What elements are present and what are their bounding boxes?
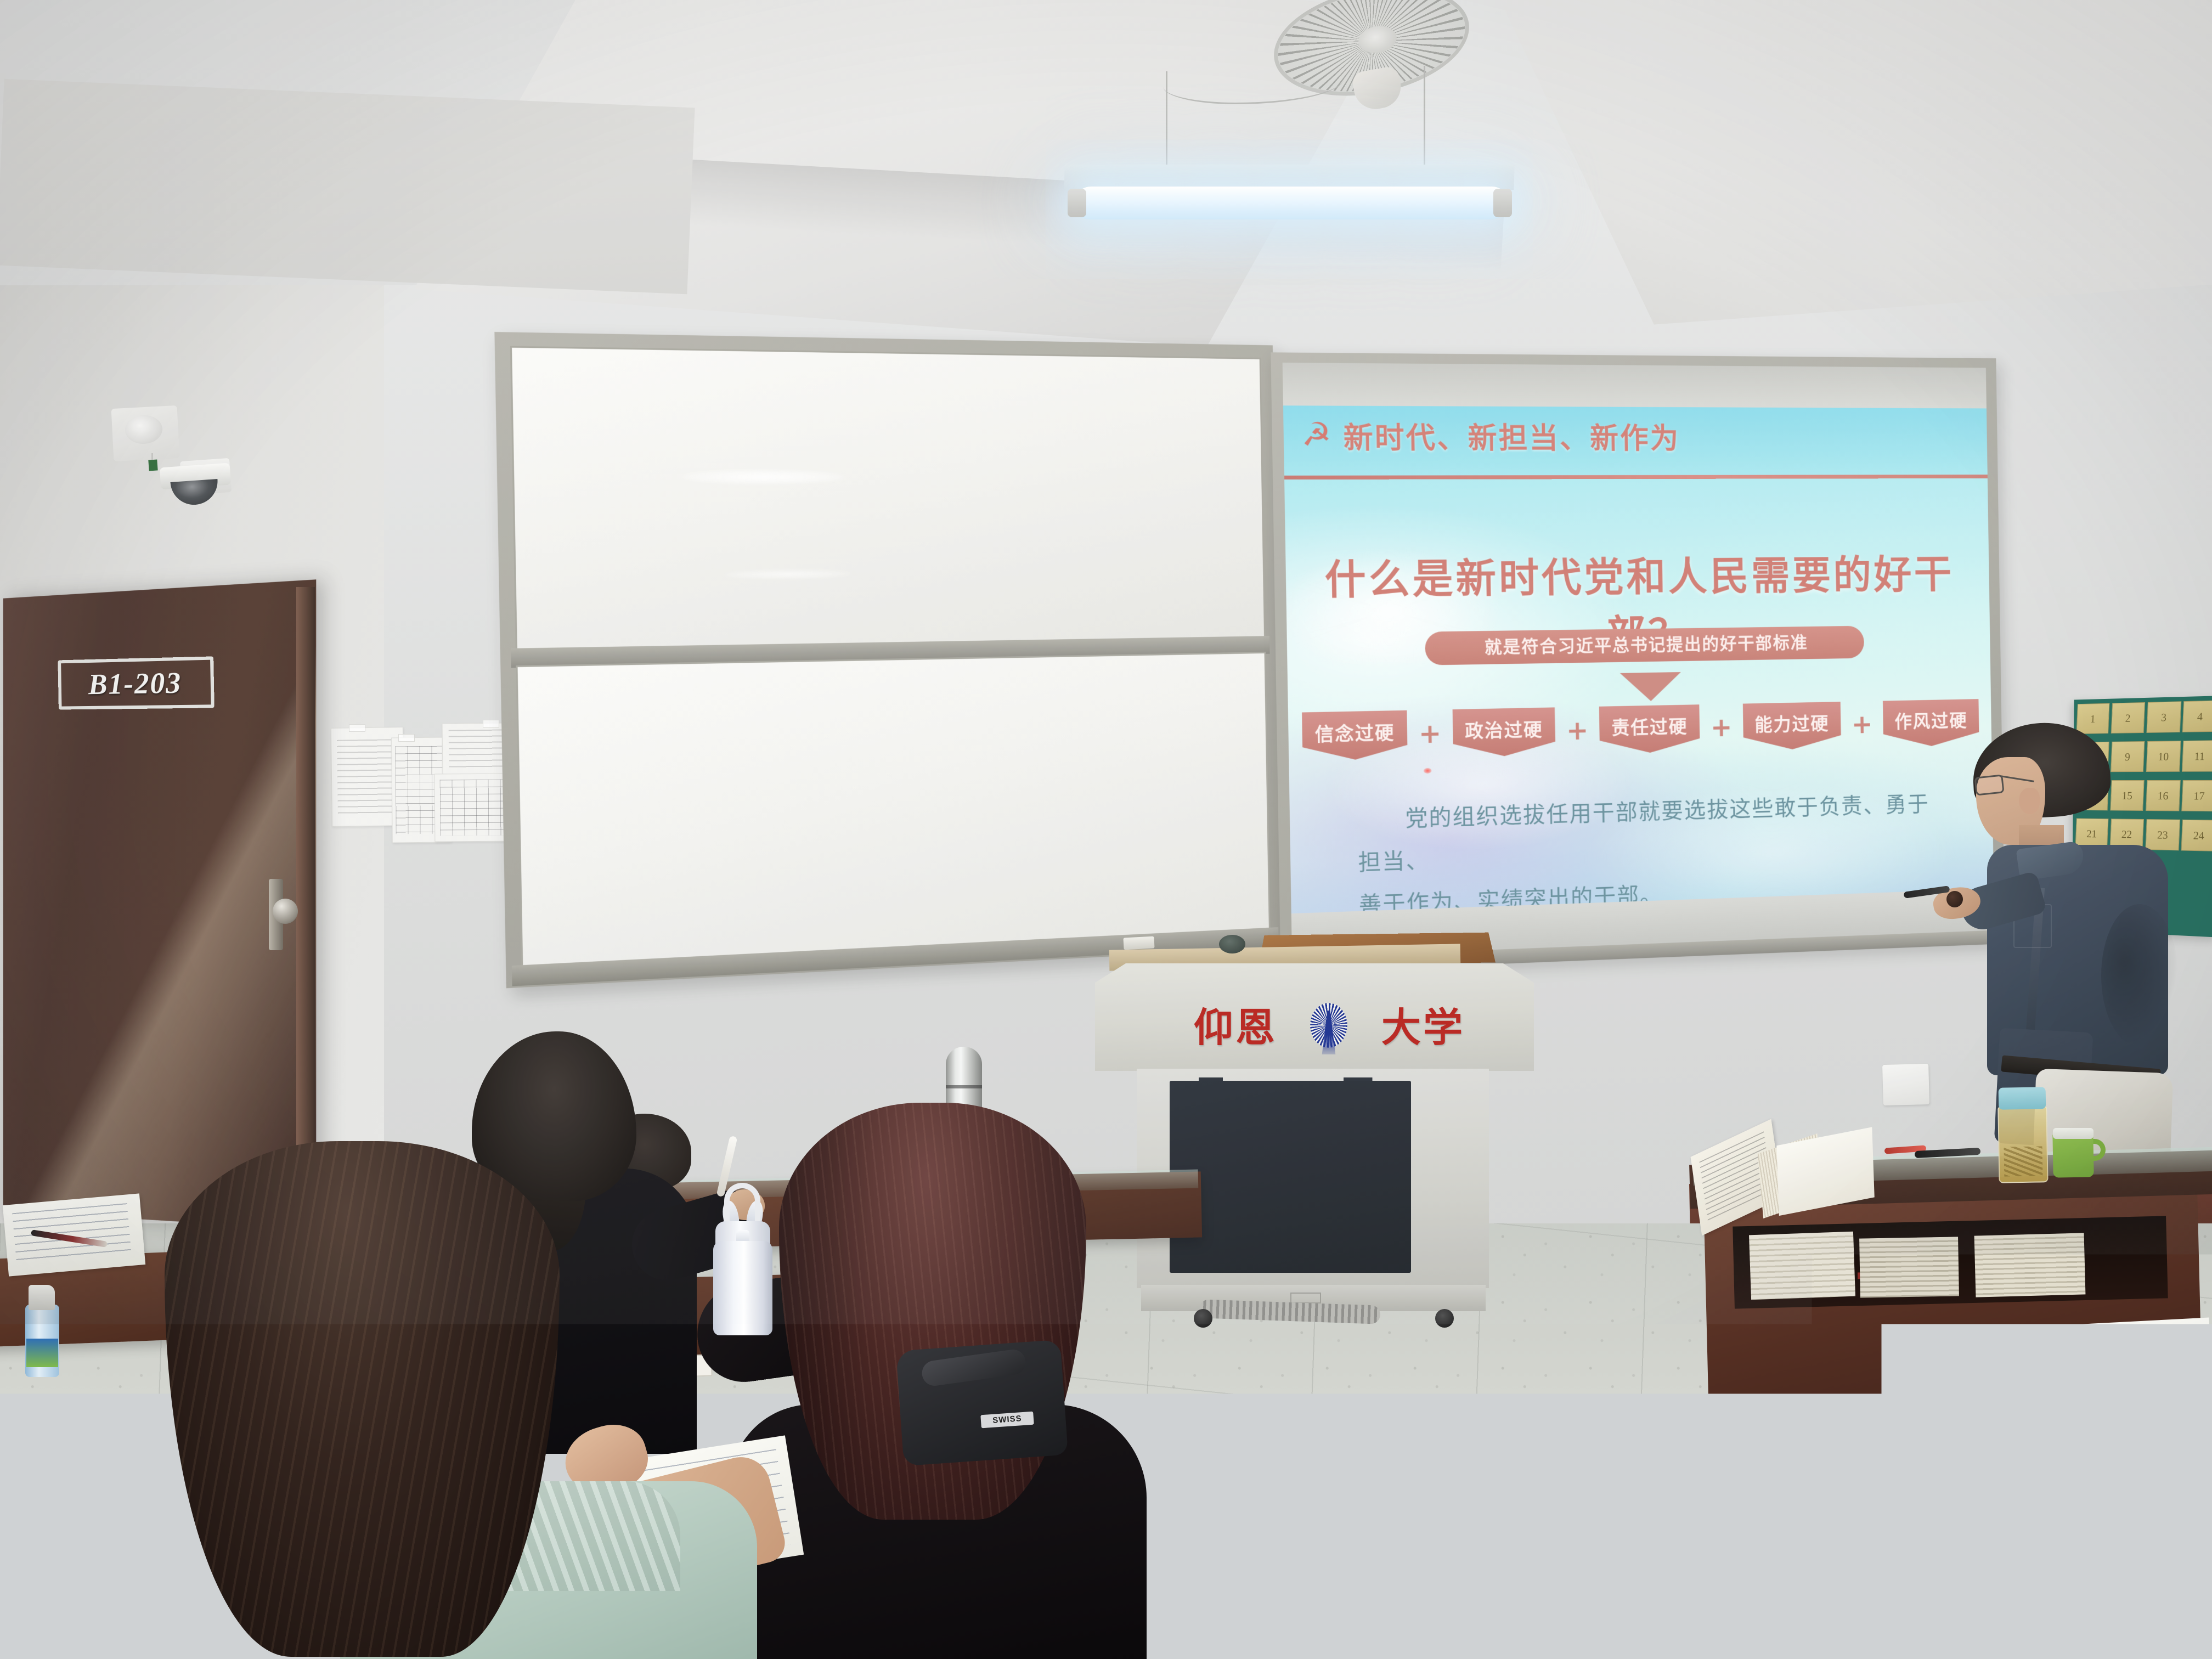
podium-front-panel: 仰恩 大学: [1095, 963, 1534, 1071]
light-tube-glass: [1074, 187, 1508, 219]
room-number-sign: B1-203: [58, 656, 214, 709]
slide-badge-row: 信念过硬 + 政治过硬 + 责任过硬 + 能力过硬 + 作风过硬: [1302, 699, 1979, 761]
slide-badge: 能力过硬: [1742, 702, 1841, 751]
podium-caster-wheel: [1435, 1309, 1454, 1328]
plus-icon: +: [1851, 712, 1872, 738]
notice-tape: [483, 720, 499, 727]
glass-tea-bottle: [1997, 1080, 2048, 1183]
plus-icon: +: [1566, 717, 1589, 744]
light-hanger-right: [1424, 66, 1425, 167]
plus-icon: +: [1710, 714, 1732, 741]
student-pink-sleeve-body: [0, 1430, 154, 1659]
university-name-right: 大学: [1381, 995, 1465, 1053]
book-stack: [1749, 1232, 1855, 1300]
teacher-shirt-shadow: [2101, 904, 2178, 1047]
teacher-glasses: [1974, 774, 2004, 795]
book-stack: [1859, 1237, 1959, 1297]
light-end-cap-right: [1493, 189, 1512, 217]
slide-kicker-text: 新时代、新担当、新作为: [1343, 419, 1731, 459]
mug-rim: [2053, 1128, 2093, 1139]
teacher: [1937, 723, 2212, 1178]
whiteboard-left: [494, 332, 1283, 988]
whiteboard-light-reflection: [682, 470, 844, 484]
podium-control-screen[interactable]: [1170, 1081, 1411, 1273]
slide-badge: 政治过硬: [1452, 707, 1555, 757]
white-bunny-ear-water-bottle: [708, 1186, 778, 1335]
projection-surface: ☭ 新时代、新担当、新作为 什么是新时代党和人民需要的好干部？ 就是符合习近平总…: [1283, 363, 1995, 960]
fluorescent-tube-light: [1064, 165, 1531, 230]
slide-subtitle-bar: 就是符合习近平总书记提出的好干部标准: [1425, 626, 1864, 665]
wall-power-socket[interactable]: [1882, 1064, 1929, 1105]
light-hanger-left: [1166, 71, 1167, 167]
tea-bottle-lid: [1999, 1087, 2046, 1109]
slide-chevron-down-icon: [1620, 672, 1681, 702]
door-jamb: [296, 587, 315, 1223]
student-wavy-hair-texture: [165, 1141, 560, 1657]
thermos-cap-seam: [946, 1085, 982, 1088]
podium-remote-control[interactable]: [1123, 936, 1154, 950]
presentation-slide: ☭ 新时代、新担当、新作为 什么是新时代党和人民需要的好干部？ 就是符合习近平总…: [1283, 405, 1994, 913]
book-stack: [1974, 1233, 2086, 1297]
bottle-body: [713, 1241, 772, 1335]
podium-vent: [1290, 1293, 1321, 1304]
university-name-left: 仰恩: [1194, 995, 1277, 1053]
light-end-cap-left: [1068, 189, 1086, 217]
classroom-photo-scene: B1-203 ☭ 新时代、新担当、新作为 什么是新时代党和人民需要的好干部？: [0, 0, 2212, 1659]
plus-icon: +: [1418, 720, 1441, 748]
door-knob[interactable]: [273, 899, 298, 924]
paper-box-label: [2128, 1324, 2207, 1359]
whiteboard-lower-panel: [516, 652, 1270, 968]
slide-badge: 信念过硬: [1302, 710, 1408, 761]
podium-mouse[interactable]: [1219, 935, 1245, 953]
notice-tape: [349, 724, 365, 732]
camera-green-tag: [148, 459, 157, 471]
teacher-ear: [2019, 788, 2040, 814]
party-emblem-icon: ☭: [1299, 418, 1335, 453]
chair-backrest: [1880, 1430, 2169, 1659]
notice-tape: [398, 734, 415, 742]
tea-leaves: [2004, 1146, 2042, 1176]
screen-unlit-top-margin: [1283, 363, 1987, 409]
open-textbook: [1694, 1116, 1872, 1226]
notice-announcement-lines: [448, 729, 510, 768]
room-number-label: B1-203: [88, 665, 182, 701]
notice-text-lines: [337, 740, 398, 815]
whiteboard-upper-panel: [510, 346, 1266, 656]
spray-bottle-nozzle: [29, 1285, 55, 1310]
projection-screen-board: ☭ 新时代、新担当、新作为 什么是新时代党和人民需要的好干部？ 就是符合习近平总…: [1271, 352, 2005, 970]
notebook-ruled-lines: [12, 1203, 132, 1266]
podium-caster-wheel: [1194, 1309, 1212, 1328]
textbook-right-page: [1776, 1127, 1874, 1216]
slide-header-rule: [1284, 475, 1988, 479]
notice-roster-grid: [440, 779, 512, 836]
slide-badge: 责任过硬: [1599, 704, 1700, 754]
fan-motor: [1351, 65, 1404, 112]
laser-pointer-tip: [1946, 891, 1963, 907]
whiteboard-light-reflection: [724, 569, 851, 579]
ceiling-soffit: [0, 79, 695, 294]
spray-bottle-label: [26, 1339, 58, 1367]
